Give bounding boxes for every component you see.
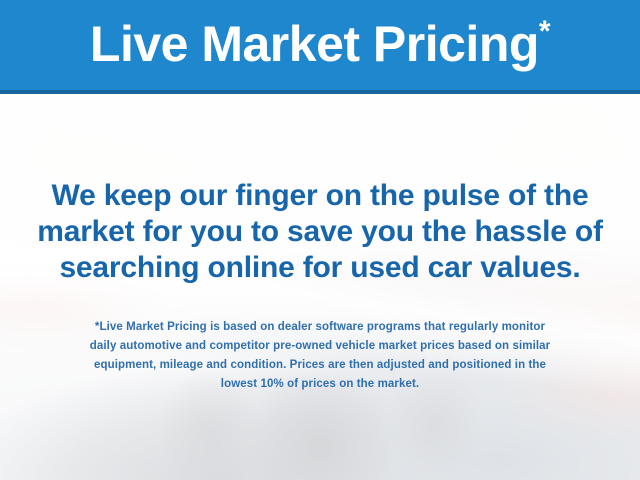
headline-line-2: market for you to save you the hassle of bbox=[18, 214, 622, 250]
page-title: Live Market Pricing* bbox=[0, 11, 640, 77]
headline-block: We keep our finger on the pulse of the m… bbox=[18, 178, 622, 286]
disclaimer-block: *Live Market Pricing is based on dealer … bbox=[22, 318, 618, 394]
disclaimer-line-1: *Live Market Pricing is based on dealer … bbox=[22, 318, 618, 337]
disclaimer-line-2: daily automotive and competitor pre-owne… bbox=[22, 337, 618, 356]
page-title-asterisk: * bbox=[539, 15, 550, 48]
disclaimer-line-4: lowest 10% of prices on the market. bbox=[22, 375, 618, 394]
header-banner: Live Market Pricing* bbox=[0, 0, 640, 94]
headline-line-1: We keep our finger on the pulse of the bbox=[18, 178, 622, 214]
page-title-text: Live Market Pricing bbox=[90, 16, 539, 72]
disclaimer-line-3: equipment, mileage and condition. Prices… bbox=[22, 356, 618, 375]
headline-line-3: searching online for used car values. bbox=[18, 250, 622, 286]
banner-underline-divider bbox=[0, 90, 640, 94]
live-market-pricing-slide: Live Market Pricing* We keep our finger … bbox=[0, 0, 640, 480]
